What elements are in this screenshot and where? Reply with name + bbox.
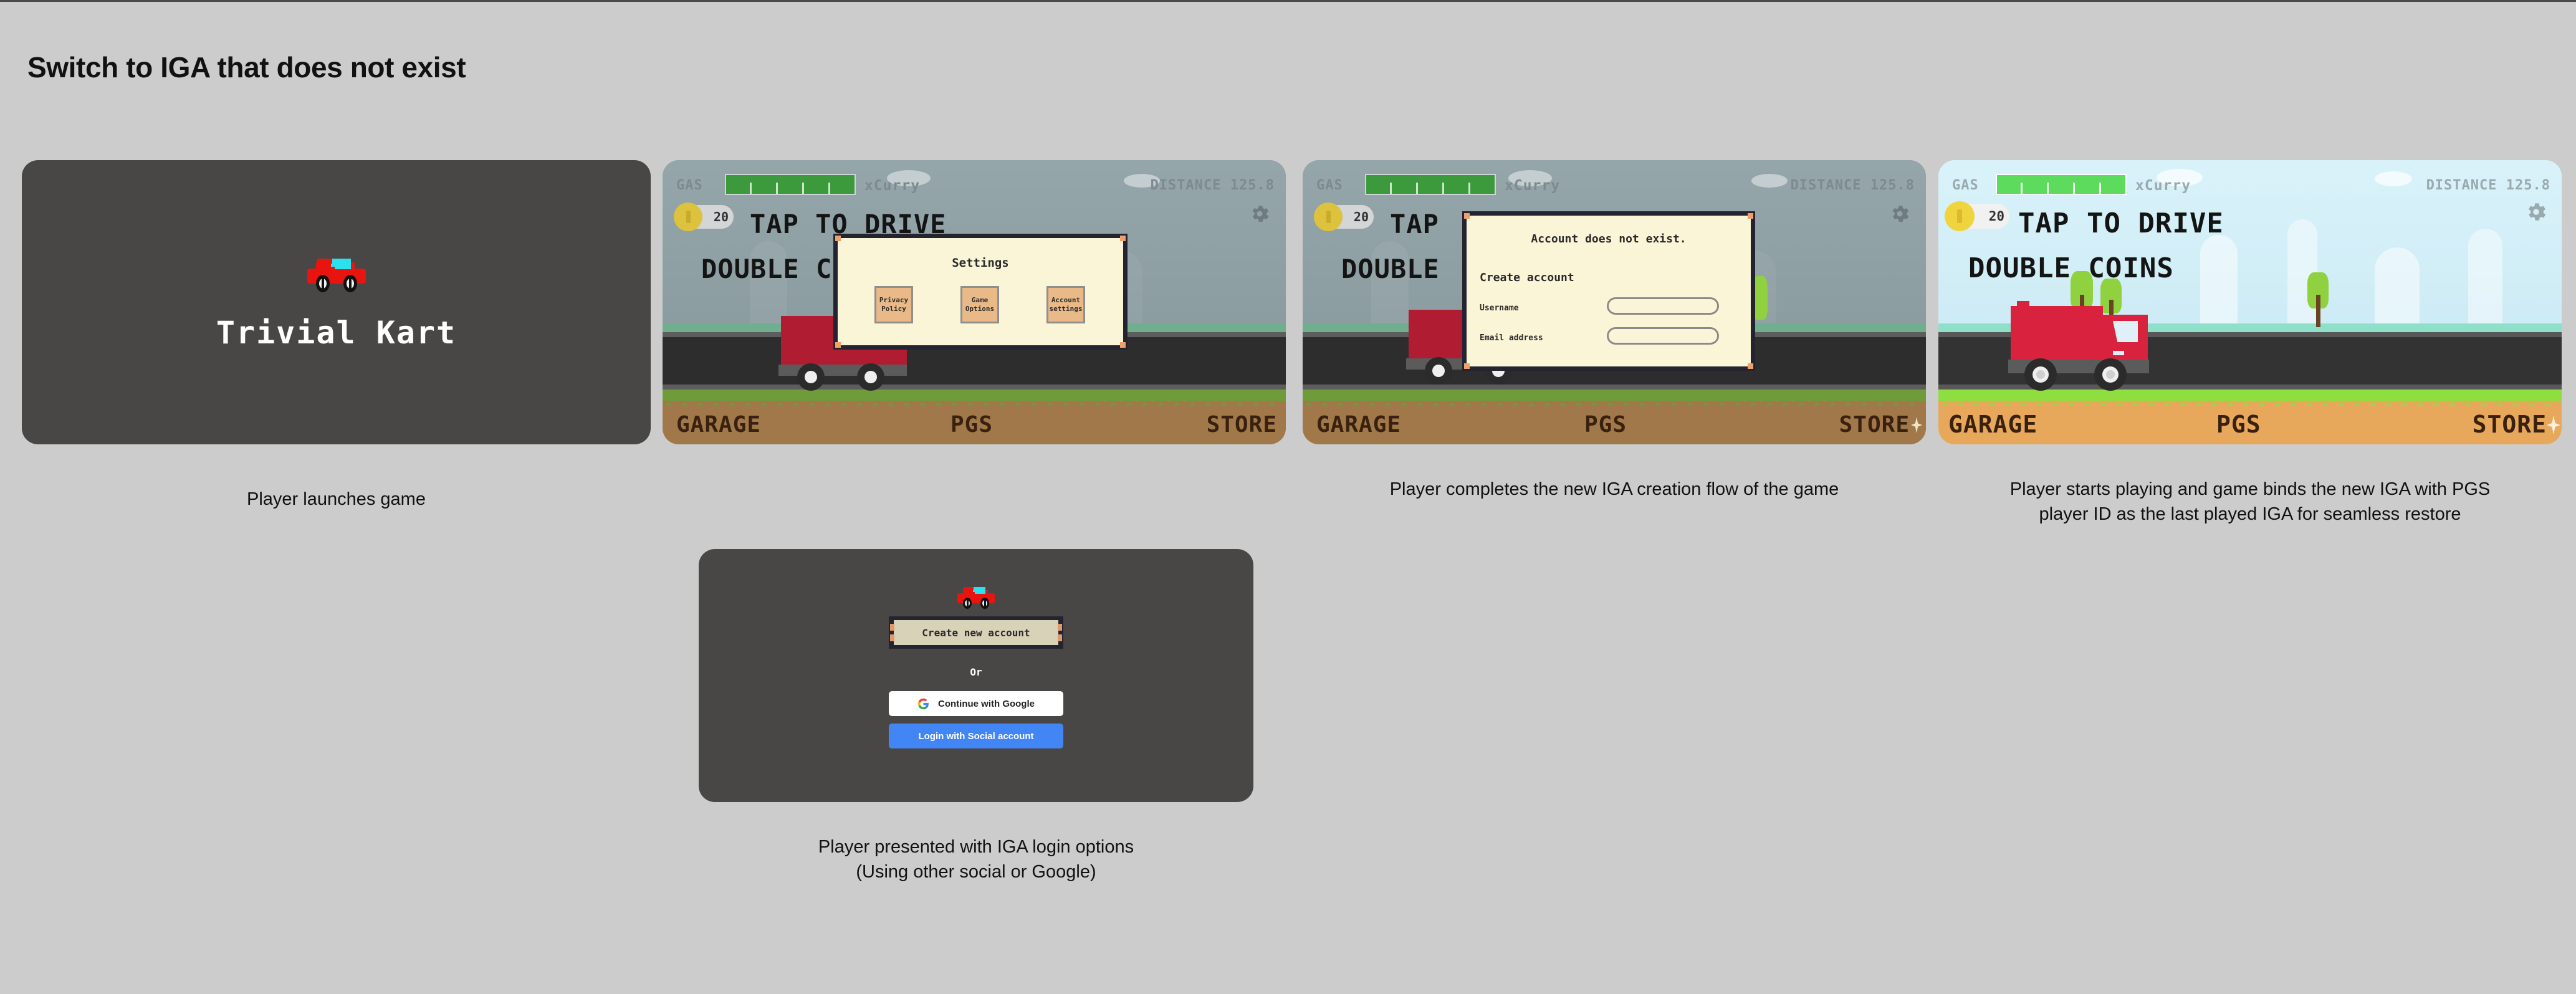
coin-count: 20 [1354,209,1369,224]
truck-sprite [2003,299,2171,391]
panel-playing: GAS xCurry DISTANCE 125.8 20 TAP TO DRIV… [1938,160,2562,444]
privacy-policy-line2: Policy [879,305,908,313]
panel-splash: Trivial Kart [22,160,651,444]
panel-login-options: Create new account Or Continue with Goog… [699,549,1253,802]
page-title: Switch to IGA that does not exist [27,50,466,84]
nav-pgs[interactable]: PGS [2216,411,2261,438]
distance-label: DISTANCE 125.8 [2426,178,2550,193]
game-options-line2: Options [965,305,994,313]
account-settings-line1: Account [1050,296,1083,305]
gas-bar [725,174,856,195]
game-options-button[interactable]: Game Options [960,286,999,323]
gear-icon[interactable] [1248,203,1271,225]
caption-login-options: Player presented with IGA login options … [699,834,1253,884]
nav-store[interactable]: STORE [1207,412,1277,437]
coin-count: 20 [714,209,729,224]
create-account-dialog: Account does not exist. Create account U… [1462,211,1755,371]
coin-icon [674,203,702,231]
coin-icon [1314,203,1343,231]
caption-login-line1: Player presented with IGA login options [699,834,1253,859]
panel-settings: GAS xCurry DISTANCE 125.8 20 TAP TO DRIV… [663,160,1286,444]
continue-with-google-label: Continue with Google [938,699,1035,709]
nav-garage[interactable]: GARAGE [676,412,761,437]
distance-label: DISTANCE 125.8 [1151,178,1275,193]
tap-line-2: DOUBLE COINS [1968,252,2174,284]
coin-icon [1945,201,1975,231]
caption-login-line2: (Using other social or Google) [699,859,1253,884]
tap-line-1: TAP [1390,209,1439,239]
continue-with-google-button[interactable]: Continue with Google [889,691,1063,716]
gear-icon[interactable] [2524,200,2548,224]
username-label: xCurry [2135,178,2191,194]
nav-store[interactable]: STORE [2473,411,2547,438]
nav-garage[interactable]: GARAGE [1948,411,2037,438]
settings-dialog-title: Settings [833,256,1128,270]
account-settings-button[interactable]: Account settings [1046,286,1085,323]
gas-label: GAS [1316,178,1343,193]
coin-count: 20 [1989,209,2004,224]
create-new-account-button[interactable]: Create new account [889,616,1063,649]
tree-icon [2306,272,2331,327]
panel-create-account: GAS xCurry DISTANCE 125.8 20 TAP DOUBLE … [1303,160,1926,444]
tap-line-1: TAP TO DRIVE [2018,208,2224,239]
create-account-dialog-title: Account does not exist. [1462,232,1755,246]
gear-icon[interactable] [1889,203,1911,225]
create-new-account-label: Create new account [889,616,1063,649]
privacy-policy-button[interactable]: Privacy Policy [874,286,913,323]
gas-label: GAS [1952,178,1979,193]
gas-bar [1365,174,1496,195]
account-settings-line2: settings [1050,305,1083,313]
email-field-label: Email address [1480,333,1543,343]
nav-store[interactable]: STORE [1839,412,1910,437]
login-with-social-label: Login with Social account [918,731,1033,742]
car-logo-icon [306,254,367,292]
settings-dialog: Settings Privacy Policy Game Options Acc… [833,234,1128,350]
username-field-label: Username [1480,303,1519,313]
nav-garage[interactable]: GARAGE [1316,412,1401,437]
distance-label: DISTANCE 125.8 [1791,178,1915,193]
nav-pgs[interactable]: PGS [950,412,993,437]
login-with-social-button[interactable]: Login with Social account [889,724,1063,748]
gas-label: GAS [676,178,703,193]
nav-pgs[interactable]: PGS [1584,412,1627,437]
username-label: xCurry [1505,178,1560,194]
or-separator-label: Or [699,666,1253,678]
email-input[interactable] [1607,327,1719,345]
username-input[interactable] [1607,297,1719,315]
car-logo-icon [957,584,995,609]
gas-bar [1996,174,2127,195]
game-title: Trivial Kart [216,315,456,351]
game-options-line1: Game [965,296,994,305]
username-label: xCurry [864,178,920,194]
create-account-subtitle: Create account [1480,271,1574,284]
google-g-icon [917,698,929,710]
caption-create-account: Player completes the new IGA creation fl… [1328,477,1901,502]
caption-splash: Player launches game [22,487,651,512]
caption-playing: Player starts playing and game binds the… [1988,477,2512,527]
privacy-policy-line1: Privacy [879,296,908,305]
tap-line-2: DOUBLE [1341,254,1440,284]
